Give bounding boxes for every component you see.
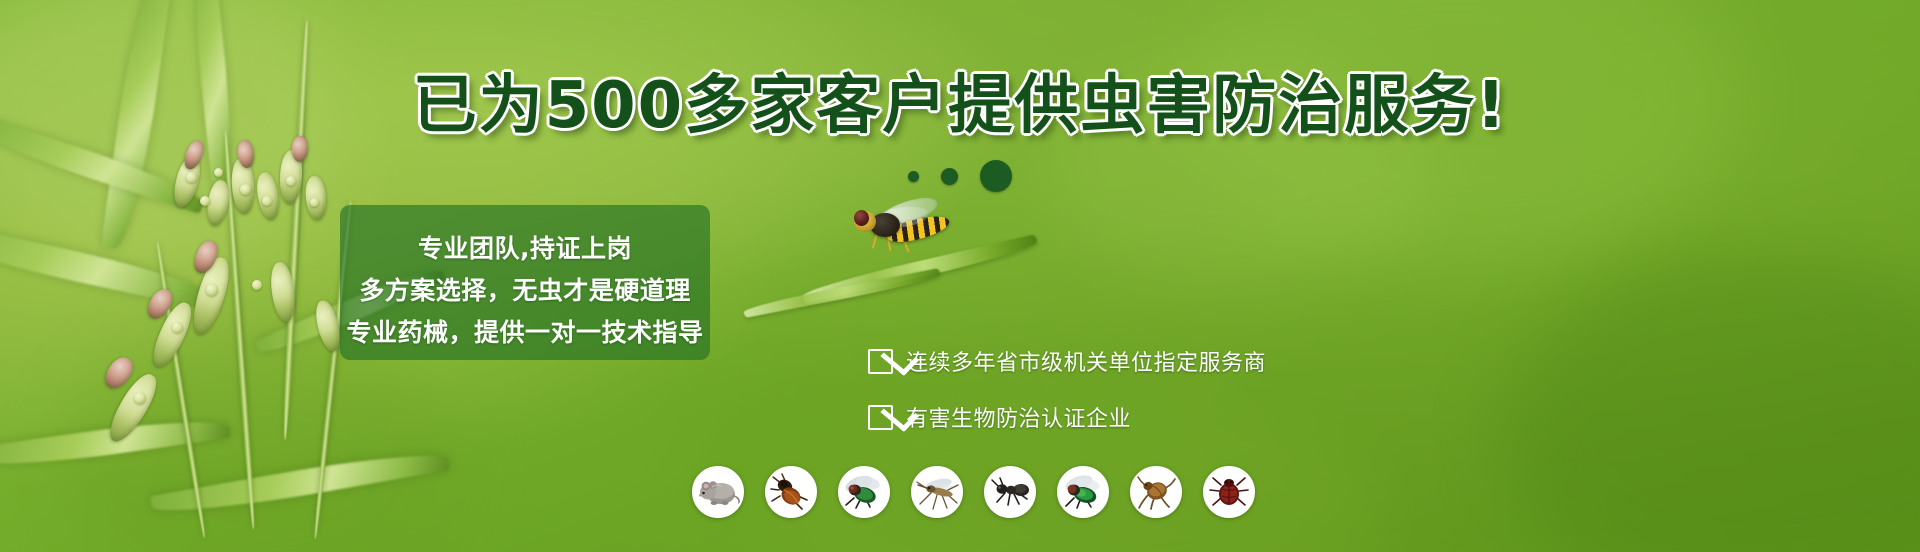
claim-line-3: 专业药械，提供一对一技术指导 xyxy=(346,313,703,349)
hoverfly-icon xyxy=(846,199,958,251)
checkbox-checked-icon xyxy=(868,349,893,374)
decorative-dots xyxy=(0,160,1920,192)
mosquito-icon[interactable] xyxy=(911,466,963,518)
mouse-icon[interactable] xyxy=(692,466,744,518)
list-item: 有害生物防治认证企业 xyxy=(868,401,1266,433)
list-item: 连续多年省市级机关单位指定服务商 xyxy=(868,345,1266,377)
cockroach-icon[interactable] xyxy=(765,466,817,518)
pest-control-banner: 已为500多家客户提供虫害防治服务! 专业团队,持证上岗 多方案选择，无虫才是硬… xyxy=(0,0,1920,552)
claim-line-1: 专业团队,持证上岗 xyxy=(418,229,632,265)
certification-label: 连续多年省市级机关单位指定服务商 xyxy=(906,345,1266,377)
housefly-icon[interactable] xyxy=(838,466,890,518)
certification-label: 有害生物防治认证企业 xyxy=(906,401,1131,433)
greenbottle-fly-icon[interactable] xyxy=(1057,466,1109,518)
dot-small xyxy=(908,171,919,182)
claim-line-2: 多方案选择，无虫才是硬道理 xyxy=(359,271,691,307)
certification-list: 连续多年省市级机关单位指定服务商 有害生物防治认证企业 xyxy=(868,345,1266,433)
claims-panel: 专业团队,持证上岗 多方案选择，无虫才是硬道理 专业药械，提供一对一技术指导 xyxy=(340,205,710,360)
dot-medium xyxy=(941,168,958,185)
dot-large xyxy=(980,160,1012,192)
page-title: 已为500多家客户提供虫害防治服务! xyxy=(0,74,1920,138)
hoverfly-illustration xyxy=(780,195,1140,305)
checkbox-checked-icon xyxy=(868,405,893,430)
pest-icon-row xyxy=(692,466,1255,518)
flea-icon[interactable] xyxy=(1130,466,1182,518)
ant-icon[interactable] xyxy=(984,466,1036,518)
bedbug-icon[interactable] xyxy=(1203,466,1255,518)
